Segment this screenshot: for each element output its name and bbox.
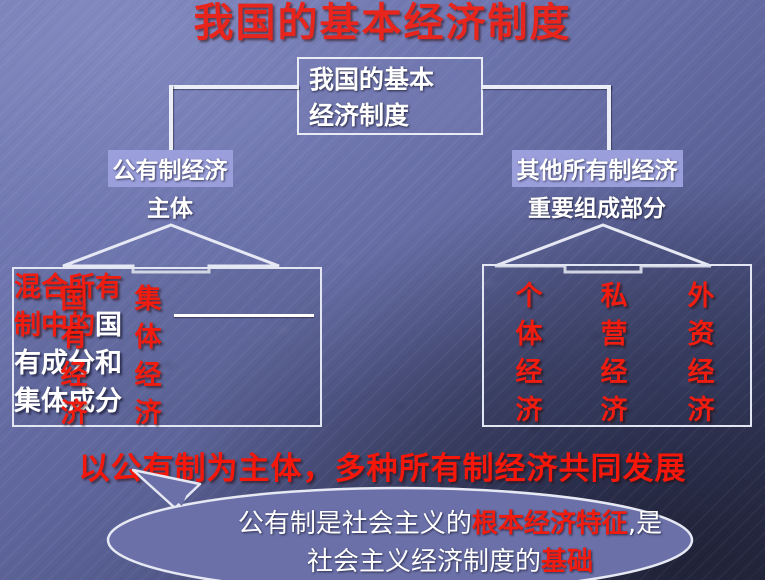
column-foreign-funded-economy: 外 资 经 济 [676,278,726,430]
other-ownership-detail-box: 个 体 经 济 私 营 经 济 外 资 经 济 [482,264,752,427]
callout-line1-part1: 公有制是社会主义的 [238,509,472,539]
callout-line2: 社会主义经济制度的基础 [150,543,750,580]
branch-label-other-ownership: 其他所有制经济 重要组成部分 [472,150,722,223]
connector-right-vertical [607,85,611,153]
public-ownership-detail-box: 国 有 经 济 集 体 经 济 混合所有 制中的国 有成分和 集体成分 [12,267,322,427]
mixed-line2-white: 国 [95,310,122,341]
branch-right-subtitle: 重要组成部分 [472,189,722,223]
root-box-line2: 经济制度 [309,98,481,134]
callout-text: 公有制是社会主义的根本经济特征,是 社会主义经济制度的基础 [150,505,750,580]
branch-label-public-ownership: 公有制经济 主体 [60,150,280,223]
presentation-slide: 我国的基本经济制度 我国的基本 经济制度 公有制经济 主体 其他所有制经济 重要… [0,0,765,580]
callout-line2-part1: 社会主义经济制度的 [307,547,541,577]
connector-left-horizontal [169,85,299,89]
page-title: 我国的基本经济制度 [0,0,765,48]
column-individual-economy: 个 体 经 济 [504,278,554,430]
branch-left-subtitle: 主体 [60,189,280,223]
connector-left-vertical [169,85,173,153]
callout-line1-emphasis: 根本经济特征 [472,509,628,539]
connector-right-horizontal [481,85,611,89]
root-concept-box: 我国的基本 经济制度 [297,57,483,135]
root-box-line1: 我国的基本 [309,62,481,98]
mixed-ownership-underline [174,314,314,317]
callout-line1-part2: ,是 [628,509,662,539]
column-state-owned-economy: 国 有 经 济 [52,281,96,433]
column-collective-economy: 集 体 经 济 [126,281,170,433]
branch-right-highlight: 其他所有制经济 [512,150,683,187]
branch-left-highlight: 公有制经济 [108,150,233,187]
column-private-economy: 私 营 经 济 [589,278,639,430]
callout-line2-emphasis: 基础 [541,547,593,577]
callout-line1: 公有制是社会主义的根本经济特征,是 [150,505,750,543]
